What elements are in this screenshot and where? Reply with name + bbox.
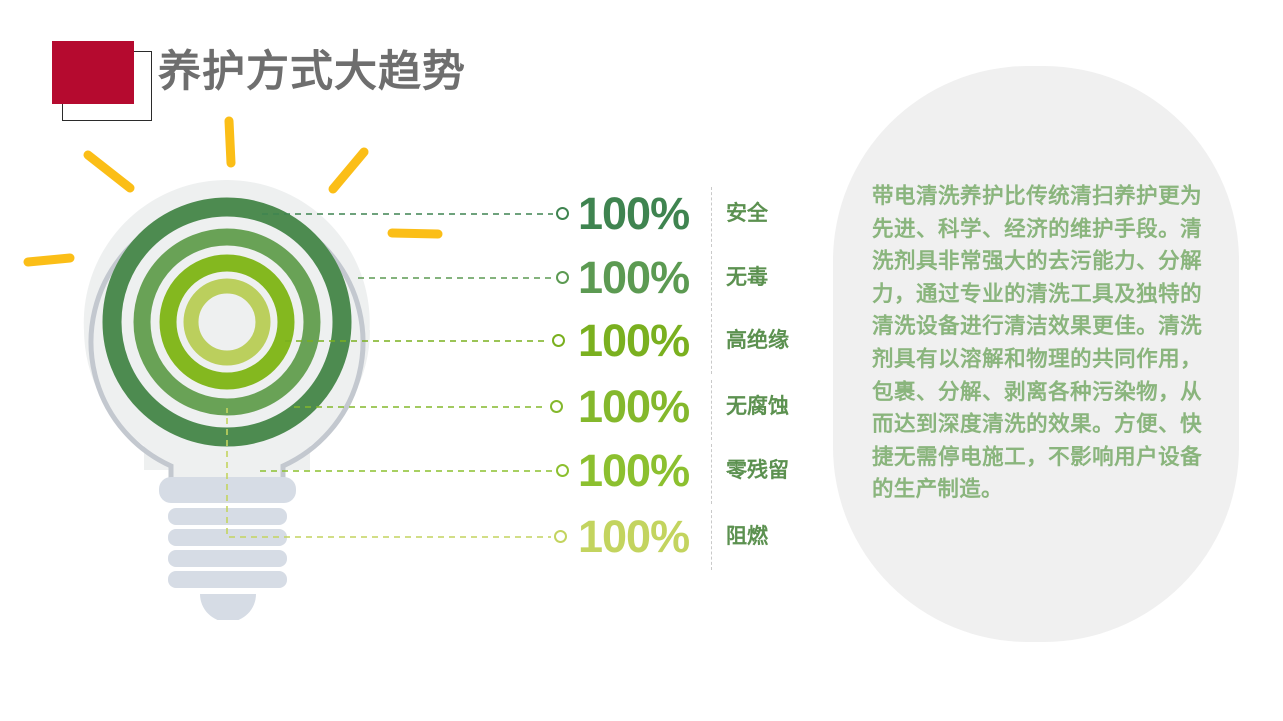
label-divider bbox=[711, 444, 712, 504]
metric-row: 100% 无毒 bbox=[0, 249, 1283, 307]
metric-row: 100% 高绝缘 bbox=[0, 312, 1283, 370]
connector-dot bbox=[554, 530, 567, 543]
label-divider bbox=[711, 510, 712, 570]
metric-value: 100% bbox=[578, 312, 689, 370]
connector-dot bbox=[556, 207, 569, 220]
metric-label: 阻燃 bbox=[726, 508, 768, 566]
metric-label: 零残留 bbox=[726, 442, 789, 500]
connector-dot bbox=[556, 271, 569, 284]
metric-value: 100% bbox=[578, 508, 689, 566]
metric-label: 高绝缘 bbox=[726, 312, 789, 370]
metric-label: 无腐蚀 bbox=[726, 378, 789, 436]
metric-label: 无毒 bbox=[726, 249, 768, 307]
metric-value: 100% bbox=[578, 249, 689, 307]
label-divider bbox=[711, 314, 712, 374]
metrics-list: 100% 安全 100% 无毒 100% 高绝缘 bbox=[0, 0, 1283, 721]
label-divider bbox=[711, 187, 712, 247]
metric-label: 安全 bbox=[726, 185, 768, 243]
metric-row: 100% 安全 bbox=[0, 185, 1283, 243]
metric-value: 100% bbox=[578, 185, 689, 243]
connector-dot bbox=[552, 334, 565, 347]
label-divider bbox=[711, 251, 712, 311]
slide-canvas: 养护方式大趋势 bbox=[0, 0, 1283, 721]
metric-row: 100% 阻燃 bbox=[0, 508, 1283, 566]
label-divider bbox=[711, 380, 712, 440]
